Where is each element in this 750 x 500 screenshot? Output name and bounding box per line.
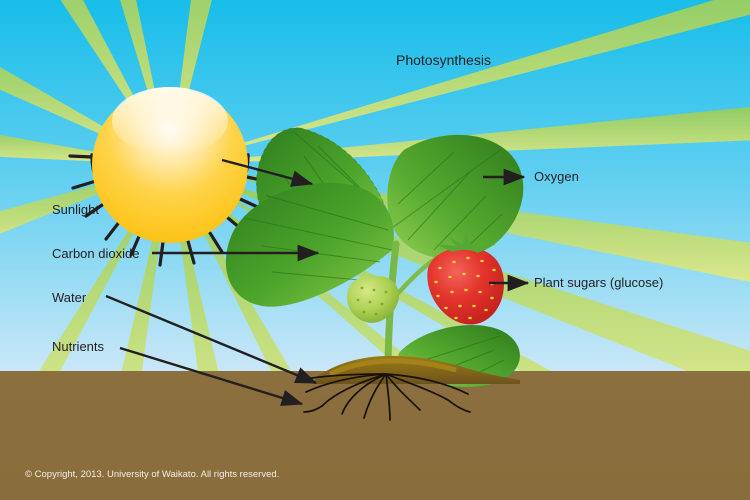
label-oxygen: Oxygen — [534, 169, 579, 184]
diagram-canvas: Photosynthesis Sunlight Carbon dioxide W… — [0, 0, 750, 500]
label-water: Water — [52, 290, 87, 305]
copyright-notice: © Copyright, 2013. University of Waikato… — [25, 469, 279, 480]
label-nutrients: Nutrients — [52, 339, 105, 354]
photosynthesis-diagram: Photosynthesis Sunlight Carbon dioxide W… — [0, 0, 750, 500]
label-carbon-dioxide: Carbon dioxide — [52, 246, 139, 261]
diagram-title: Photosynthesis — [396, 52, 491, 68]
sun-highlight — [112, 87, 228, 155]
label-plant-sugars: Plant sugars (glucose) — [534, 275, 663, 290]
label-sunlight: Sunlight — [52, 202, 99, 217]
